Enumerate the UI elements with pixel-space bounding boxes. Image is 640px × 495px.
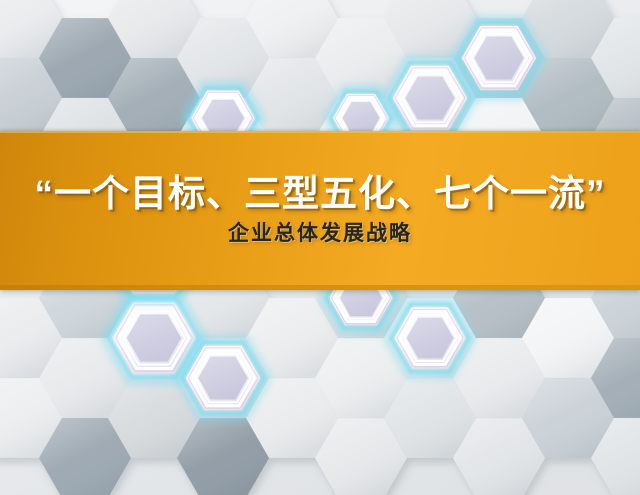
title-banner: “一个目标、三型五化、七个一流” 企业总体发展战略 <box>0 131 640 290</box>
slide-subtitle: 企业总体发展战略 <box>228 217 412 247</box>
presentation-slide: “一个目标、三型五化、七个一流” 企业总体发展战略 <box>0 0 640 495</box>
banner-content: “一个目标、三型五化、七个一流” 企业总体发展战略 <box>0 131 640 290</box>
banner-layer: “一个目标、三型五化、七个一流” 企业总体发展战略 <box>0 0 640 495</box>
slide-title: “一个目标、三型五化、七个一流” <box>35 174 606 213</box>
banner-bottom-edge <box>0 285 640 290</box>
